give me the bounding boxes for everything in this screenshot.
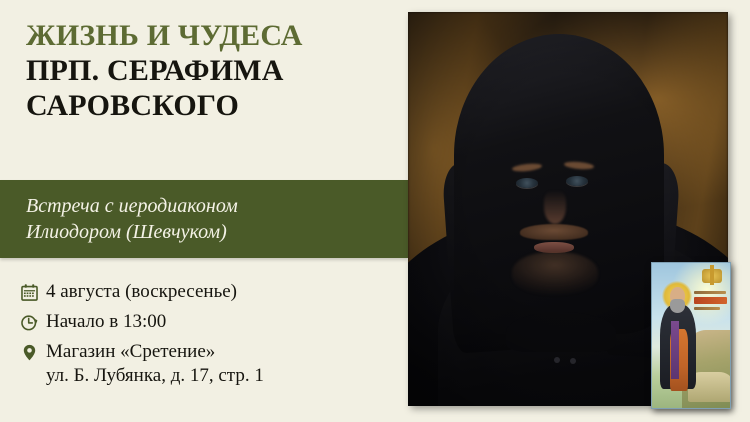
subtitle-line-2: Илиодором (Шевчуком) [26, 219, 394, 245]
book-title-line-main [694, 297, 727, 304]
title-line-2: ПРП. СЕРАФИМА [26, 53, 396, 88]
event-details: 4 августа (воскресенье) Начало в 13:00 [20, 281, 400, 395]
detail-time-text: Начало в 13:00 [46, 311, 166, 334]
book-saint-beard [670, 299, 685, 313]
title-line-1: ЖИЗНЬ И ЧУДЕСА [26, 18, 396, 53]
page-title: ЖИЗНЬ И ЧУДЕСА ПРП. СЕРАФИМА САРОВСКОГО [26, 18, 396, 123]
detail-row-time: Начало в 13:00 [20, 311, 400, 334]
calendar-icon [20, 281, 46, 302]
detail-location-venue: Магазин «Сретение» [46, 341, 215, 362]
book-title-line-top [694, 291, 726, 294]
detail-row-date: 4 августа (воскресенье) [20, 281, 400, 304]
book-title-lines [694, 291, 728, 313]
book-cross-icon [702, 269, 722, 283]
book-cover [651, 262, 731, 409]
detail-location-address: ул. Б. Лубянка, д. 17, стр. 1 [46, 365, 264, 388]
location-pin-icon [20, 341, 46, 362]
subtitle-banner: Встреча с иеродиаконом Илиодором (Шевчук… [0, 180, 408, 258]
book-saint-stole [671, 321, 679, 379]
clock-icon [20, 311, 46, 332]
title-line-3: САРОВСКОГО [26, 88, 396, 123]
event-poster: ЖИЗНЬ И ЧУДЕСА ПРП. СЕРАФИМА САРОВСКОГО … [0, 0, 750, 422]
detail-location-text: Магазин «Сретение» ул. Б. Лубянка, д. 17… [46, 341, 264, 389]
detail-date-text: 4 августа (воскресенье) [46, 281, 237, 304]
detail-row-location: Магазин «Сретение» ул. Б. Лубянка, д. 17… [20, 341, 400, 389]
subtitle-line-1: Встреча с иеродиаконом [26, 193, 394, 219]
book-title-line-bottom [694, 307, 720, 310]
subtitle-text: Встреча с иеродиаконом Илиодором (Шевчук… [26, 193, 394, 246]
